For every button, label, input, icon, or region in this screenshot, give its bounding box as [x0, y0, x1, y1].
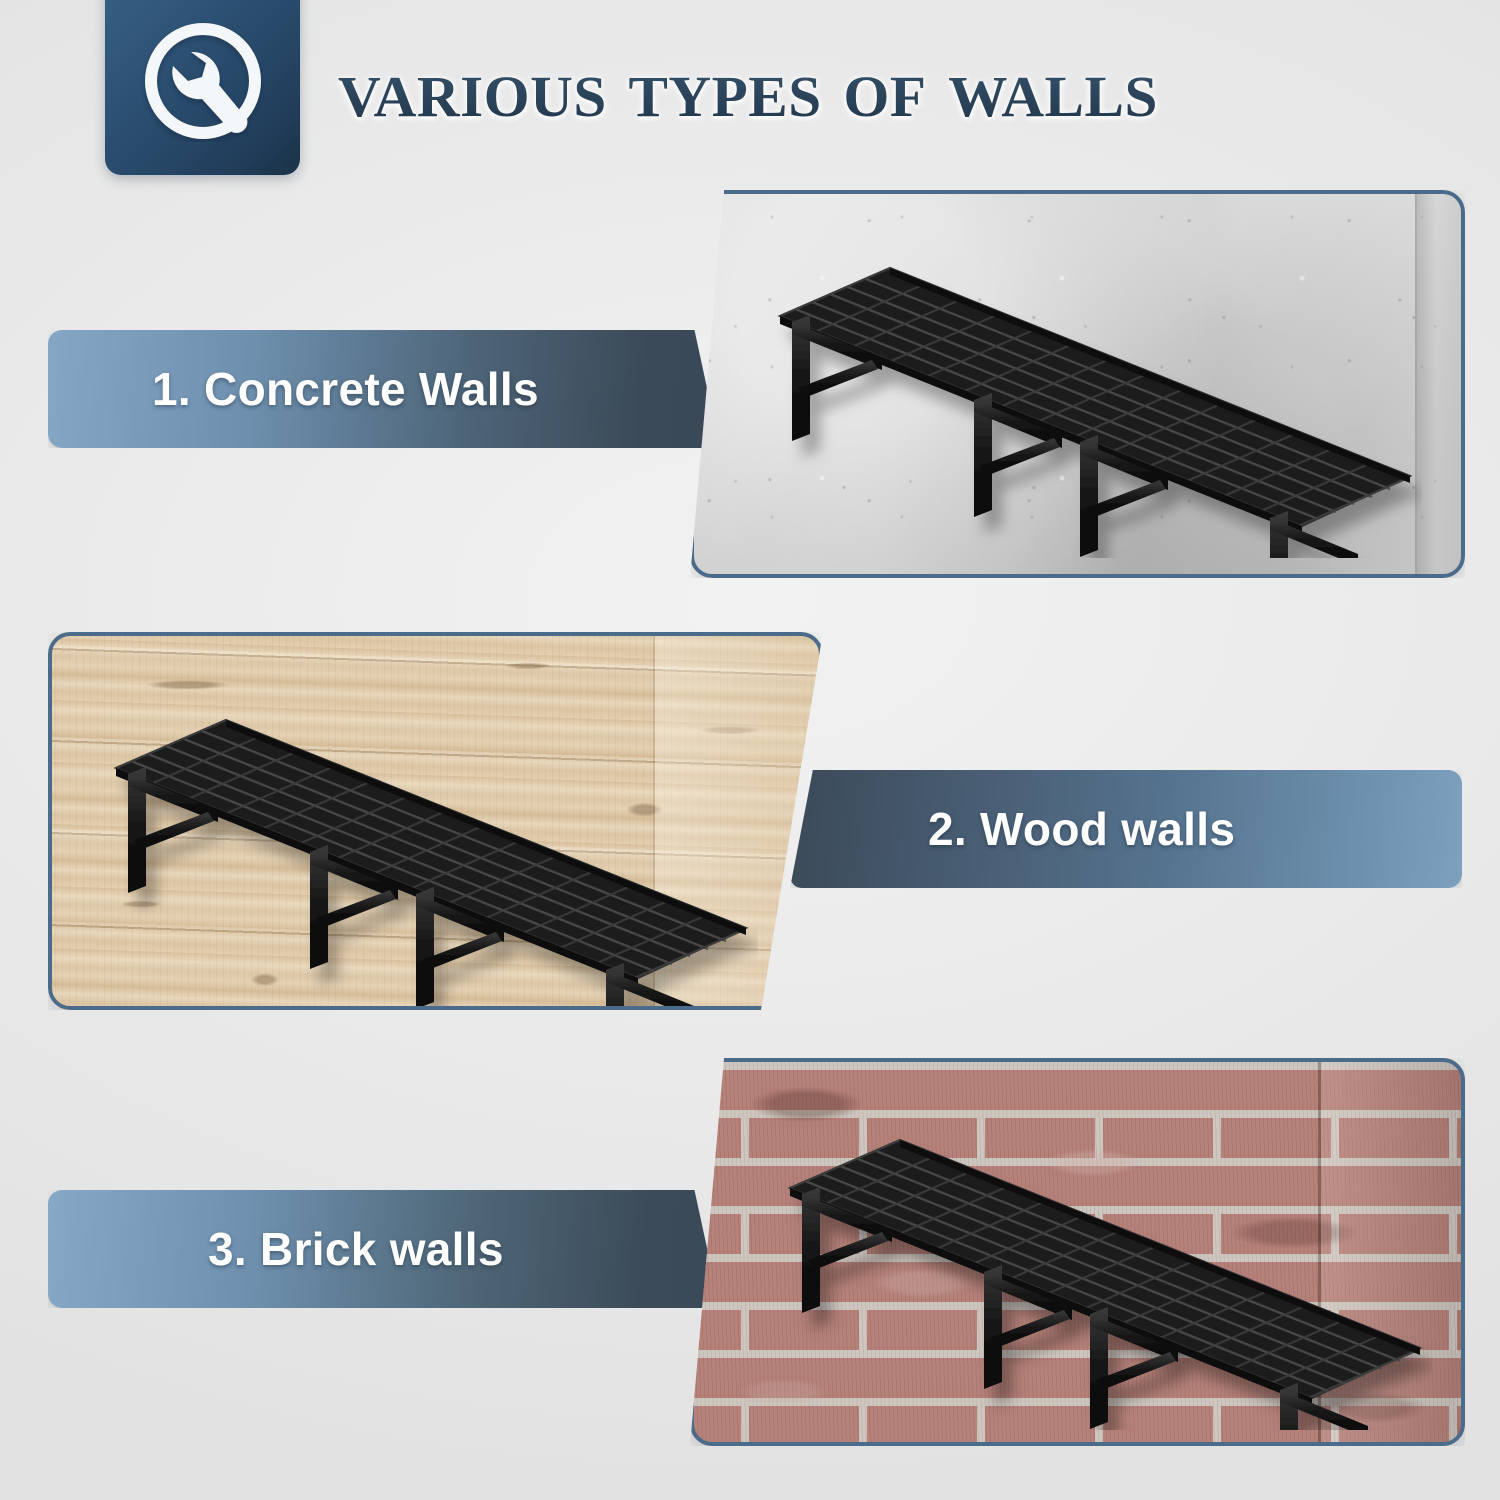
wire-shelf-product [772, 1110, 1432, 1430]
page-header: Various Types of Walls [0, 0, 1500, 200]
wire-shelf-product [98, 690, 758, 1010]
section-label-concrete[interactable]: 1. Concrete Walls [48, 330, 720, 448]
photo-panel-concrete[interactable] [690, 190, 1465, 578]
page-title: Various Types of Walls [338, 36, 1440, 141]
section-label-brick[interactable]: 3. Brick walls [48, 1190, 720, 1308]
wrench-in-circle-icon [129, 20, 277, 142]
section-label-text: 2. Wood walls [928, 802, 1235, 856]
photo-panel-wood[interactable] [48, 632, 823, 1010]
photo-panel-brick[interactable] [690, 1058, 1465, 1446]
section-label-wood[interactable]: 2. Wood walls [790, 770, 1462, 888]
wire-shelf-product [762, 238, 1422, 558]
concrete-wall-corner-edge [1415, 190, 1465, 578]
wrench-badge [105, 0, 300, 175]
section-label-text: 1. Concrete Walls [152, 362, 539, 416]
section-label-text: 3. Brick walls [208, 1222, 504, 1276]
